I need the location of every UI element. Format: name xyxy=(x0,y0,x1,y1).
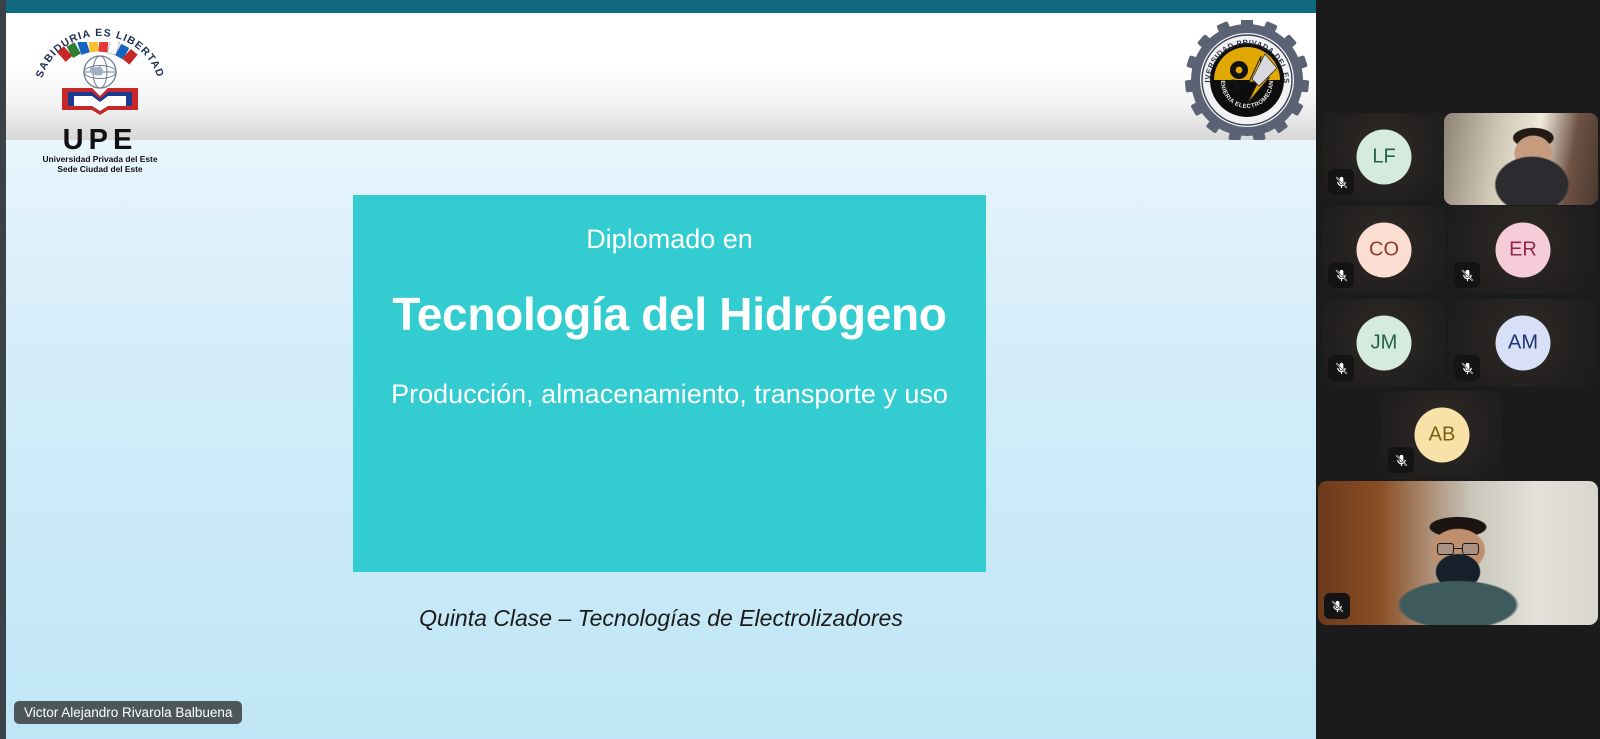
upe-acronym: UPE xyxy=(30,126,170,155)
participant-tile-lf[interactable]: LF xyxy=(1322,113,1446,201)
mic-muted-icon xyxy=(1460,361,1475,376)
mic-muted-badge xyxy=(1454,262,1480,288)
engineering-faculty-seal: UNIVERSIDAD PRIVADA DEL ESTE INGENIERIA … xyxy=(1182,20,1312,140)
mic-muted-icon xyxy=(1334,268,1349,283)
mic-muted-icon xyxy=(1334,175,1349,190)
meeting-screen-share-view: SABIDURIA ES LIBERTAD xyxy=(0,0,1600,739)
participant-tile-video-speaker[interactable] xyxy=(1444,113,1598,205)
participant-tile-am[interactable]: AM xyxy=(1448,299,1598,387)
mic-muted-badge xyxy=(1328,262,1354,288)
slide-kicker: Diplomado en xyxy=(353,211,986,257)
shared-screen-region[interactable]: SABIDURIA ES LIBERTAD xyxy=(0,0,1316,739)
avatar: JM xyxy=(1357,316,1412,371)
slide-top-accent-bar xyxy=(6,0,1316,13)
slide-main-title: Tecnología del Hidrógeno xyxy=(353,287,986,342)
avatar: AM xyxy=(1496,316,1551,371)
slide-subtitle: Producción, almacenamiento, transporte y… xyxy=(353,375,986,414)
participant-tile-video-presenter[interactable] xyxy=(1318,481,1598,625)
mic-muted-badge xyxy=(1388,447,1414,473)
avatar: LF xyxy=(1357,130,1412,185)
participant-tile-jm[interactable]: JM xyxy=(1322,299,1446,387)
participant-tile-co[interactable]: CO xyxy=(1322,206,1446,294)
slide-title-card: Diplomado en Tecnología del Hidrógeno Pr… xyxy=(353,195,986,572)
slide-footer-text: Quinta Clase – Tecnologías de Electroliz… xyxy=(6,605,1316,632)
upe-logo: SABIDURIA ES LIBERTAD xyxy=(30,22,170,167)
participant-rail[interactable]: LFCOERJMAMAB xyxy=(1316,0,1600,739)
mic-muted-icon xyxy=(1460,268,1475,283)
participant-tile-ab[interactable]: AB xyxy=(1382,391,1502,479)
mic-muted-badge xyxy=(1454,355,1480,381)
mic-muted-icon xyxy=(1394,453,1409,468)
glasses xyxy=(1437,543,1479,555)
avatar: CO xyxy=(1357,223,1412,278)
upe-line-1: Universidad Privada del Este xyxy=(30,154,170,164)
presentation-slide: SABIDURIA ES LIBERTAD xyxy=(6,0,1316,739)
avatar: AB xyxy=(1415,408,1470,463)
mic-muted-badge xyxy=(1328,169,1354,195)
upe-logo-crest xyxy=(54,42,146,120)
mic-muted-icon xyxy=(1334,361,1349,376)
mic-muted-badge xyxy=(1324,593,1350,619)
mic-muted-icon xyxy=(1330,599,1345,614)
presenter-name-chip: Victor Alejandro Rivarola Balbuena xyxy=(14,701,242,724)
avatar: ER xyxy=(1496,223,1551,278)
upe-line-2: Sede Ciudad del Este xyxy=(30,164,170,174)
participant-tile-er[interactable]: ER xyxy=(1448,206,1598,294)
mic-muted-badge xyxy=(1328,355,1354,381)
video-feed xyxy=(1444,113,1598,205)
slide-header-band xyxy=(6,13,1316,140)
